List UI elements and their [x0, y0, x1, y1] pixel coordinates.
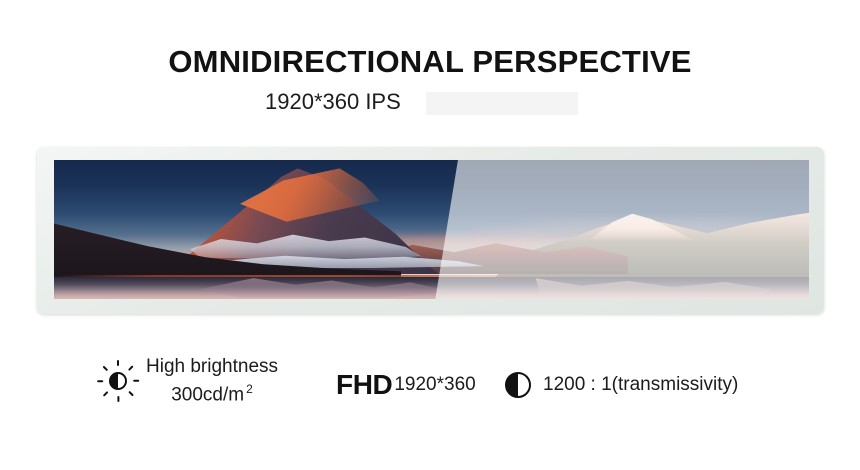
page-title: OMNIDIRECTIONAL PERSPECTIVE [0, 44, 860, 80]
brightness-value: 300cd/m [171, 385, 244, 406]
brightness-line-2: 300cd/m2 [146, 378, 278, 406]
feature-brightness: High brightness 300cd/m2 [96, 354, 278, 408]
brightness-sun-icon [96, 359, 140, 403]
fhd-label: FHD [336, 369, 392, 401]
subtitle-row: 1920*360 IPS [0, 88, 860, 118]
display-screen [54, 160, 809, 299]
feature-contrast: 1200 : 1(transmissivity) [505, 358, 738, 412]
brightness-line-1: High brightness [146, 356, 278, 377]
contrast-circle-icon [505, 372, 531, 398]
display-bezel [37, 147, 824, 314]
header: OMNIDIRECTIONAL PERSPECTIVE 1920*360 IPS [0, 0, 860, 135]
subtitle-placeholder-block [426, 92, 578, 115]
feature-resolution: FHD 1920*360 [336, 358, 476, 412]
subtitle-spec-text: 1920*360 IPS [265, 88, 401, 116]
brightness-unit-exponent: 2 [246, 382, 253, 396]
brightness-text: High brightness 300cd/m2 [146, 355, 278, 406]
resolution-value: 1920*360 [394, 374, 475, 396]
contrast-value: 1200 : 1(transmissivity) [543, 374, 738, 396]
feature-row: High brightness 300cd/m2 FHD 1920*360 12… [0, 352, 860, 414]
